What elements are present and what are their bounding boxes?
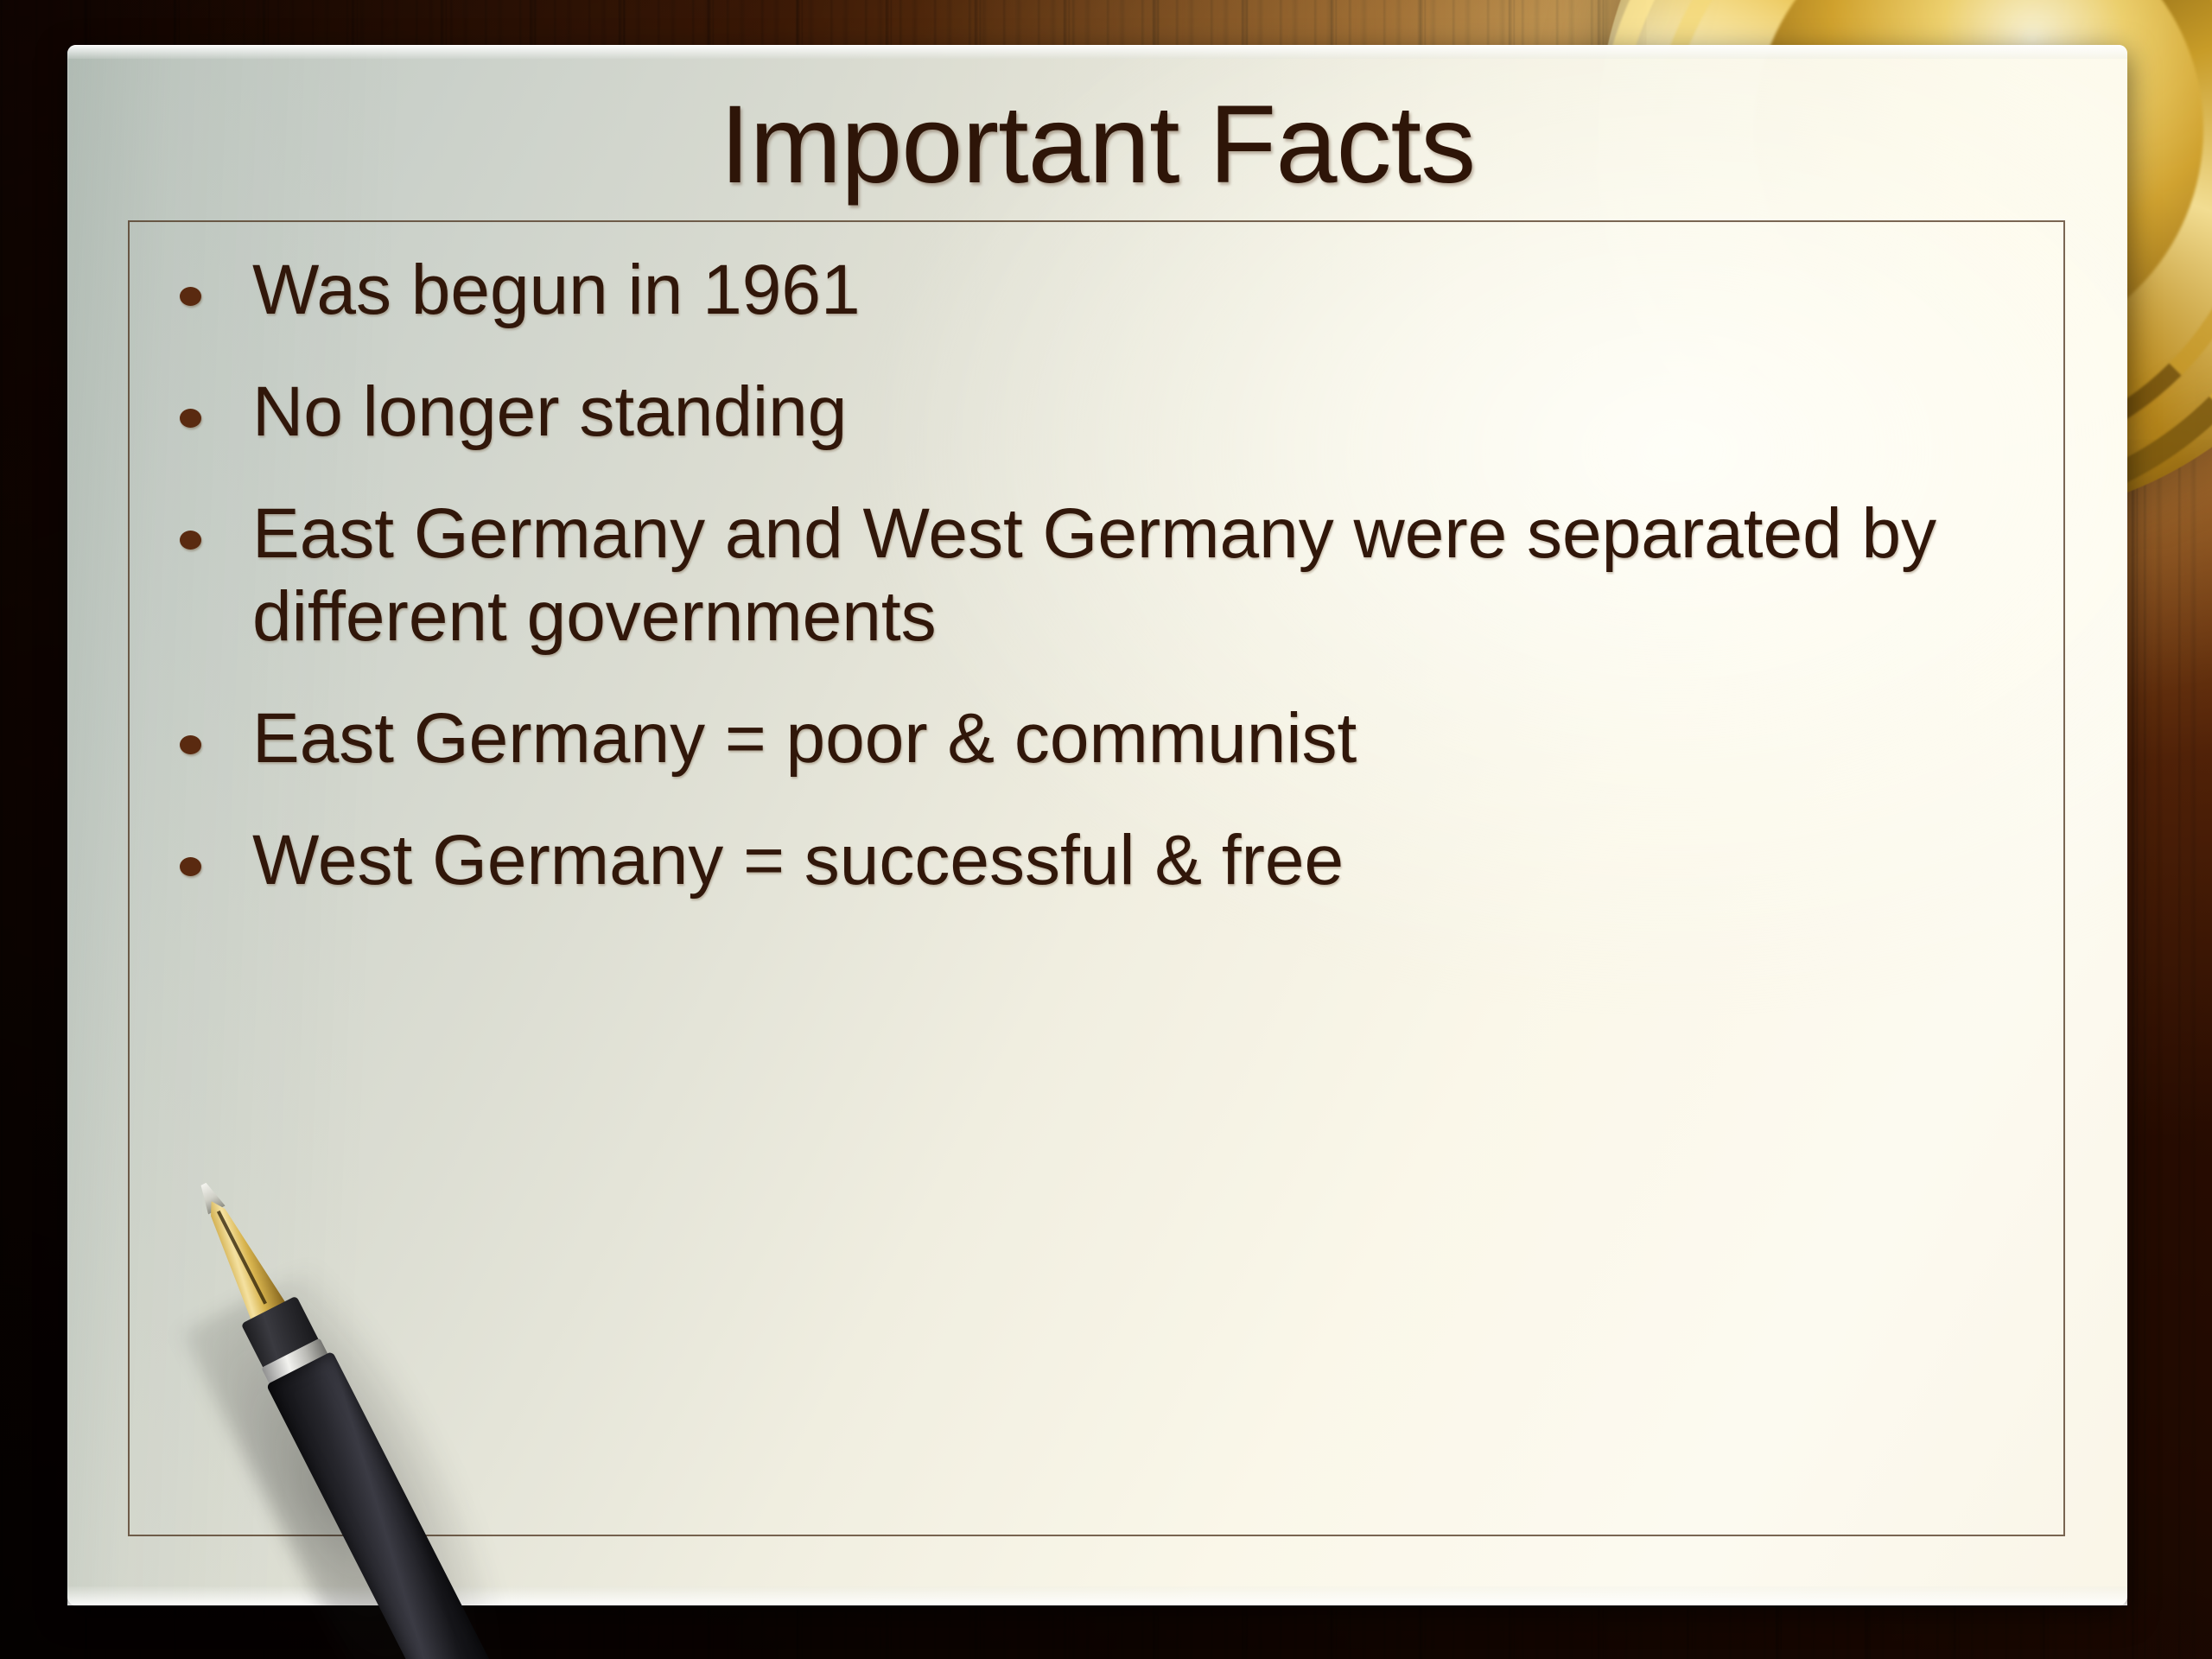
bullet-item: West Germany = successful & free [150,819,2025,903]
bullet-list: Was begun in 1961 No longer standing Eas… [150,249,2025,941]
pen-gold-nib [194,1192,289,1325]
pen-nib-slit [217,1211,267,1305]
pen-collar [241,1296,321,1372]
fountain-pen-icon [157,1170,547,1659]
pen-silver-ring [261,1338,328,1385]
bullet-item: East Germany and West Germany were separ… [150,493,2025,660]
paper-card-top-edge [67,45,2127,59]
bullet-item: Was begun in 1961 [150,249,2025,333]
bullet-item: East Germany = poor & communist [150,697,2025,781]
paper-card-bottom-edge [67,1586,2127,1605]
slide-title: Important Facts [67,90,2127,200]
presentation-slide: Important Facts Was begun in 1961 No lon… [0,0,2212,1659]
paper-card: Important Facts Was begun in 1961 No lon… [67,45,2127,1605]
bullet-item: No longer standing [150,371,2025,454]
pen-nib-tip [195,1179,226,1214]
fountain-pen-shadow [181,1250,587,1659]
